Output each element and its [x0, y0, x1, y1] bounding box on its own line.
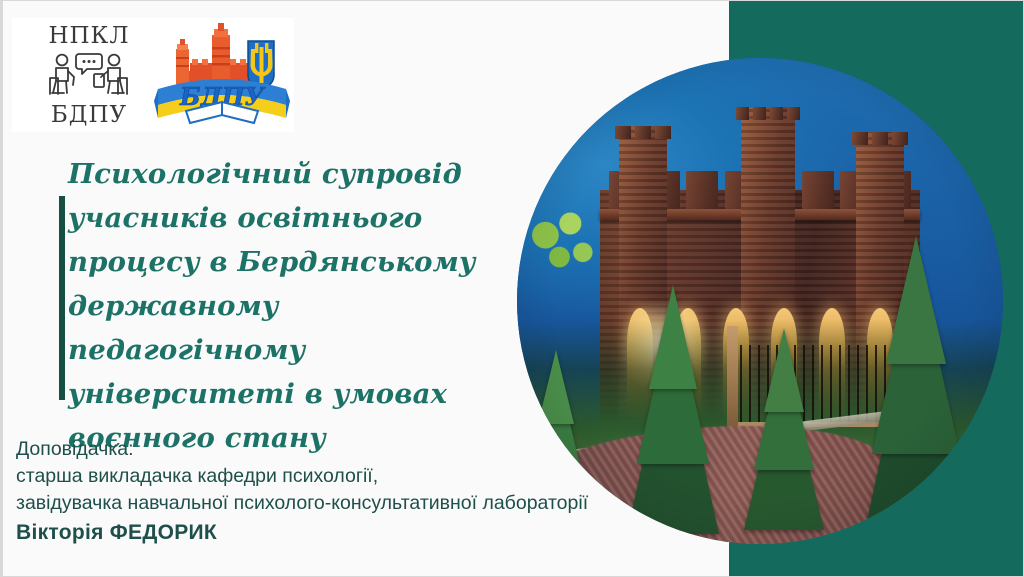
speaker-label: Доповідачка:	[16, 436, 588, 463]
university-building-photo	[517, 58, 1003, 544]
page-title: Психологічний супровід учасників освітнь…	[68, 152, 520, 460]
speaker-position-line-2: завідувачка навчальної психолого-консуль…	[16, 490, 588, 517]
lab-logo-bottom-text: БДПУ	[30, 104, 148, 127]
lab-logo-top-text: НПКЛ	[30, 25, 148, 48]
bdpu-university-emblem: БДПУ	[152, 21, 292, 129]
logo-board: НПКЛ	[12, 18, 294, 132]
npkl-bdpu-lab-logo: НПКЛ	[30, 19, 148, 131]
two-seated-figures-conversation-icon	[46, 52, 132, 100]
photo-foreground-leaves	[522, 204, 600, 282]
title-slide: НПКЛ	[0, 0, 1024, 577]
title-accent-rule	[59, 196, 65, 400]
university-building-trident-book-emblem: БДПУ	[152, 21, 292, 129]
speaker-name: Вікторія ФЕДОРИК	[16, 519, 588, 546]
speaker-block: Доповідачка: старша викладачка кафедри п…	[16, 436, 588, 546]
speaker-position-line-1: старша викладачка кафедри психології,	[16, 463, 588, 490]
